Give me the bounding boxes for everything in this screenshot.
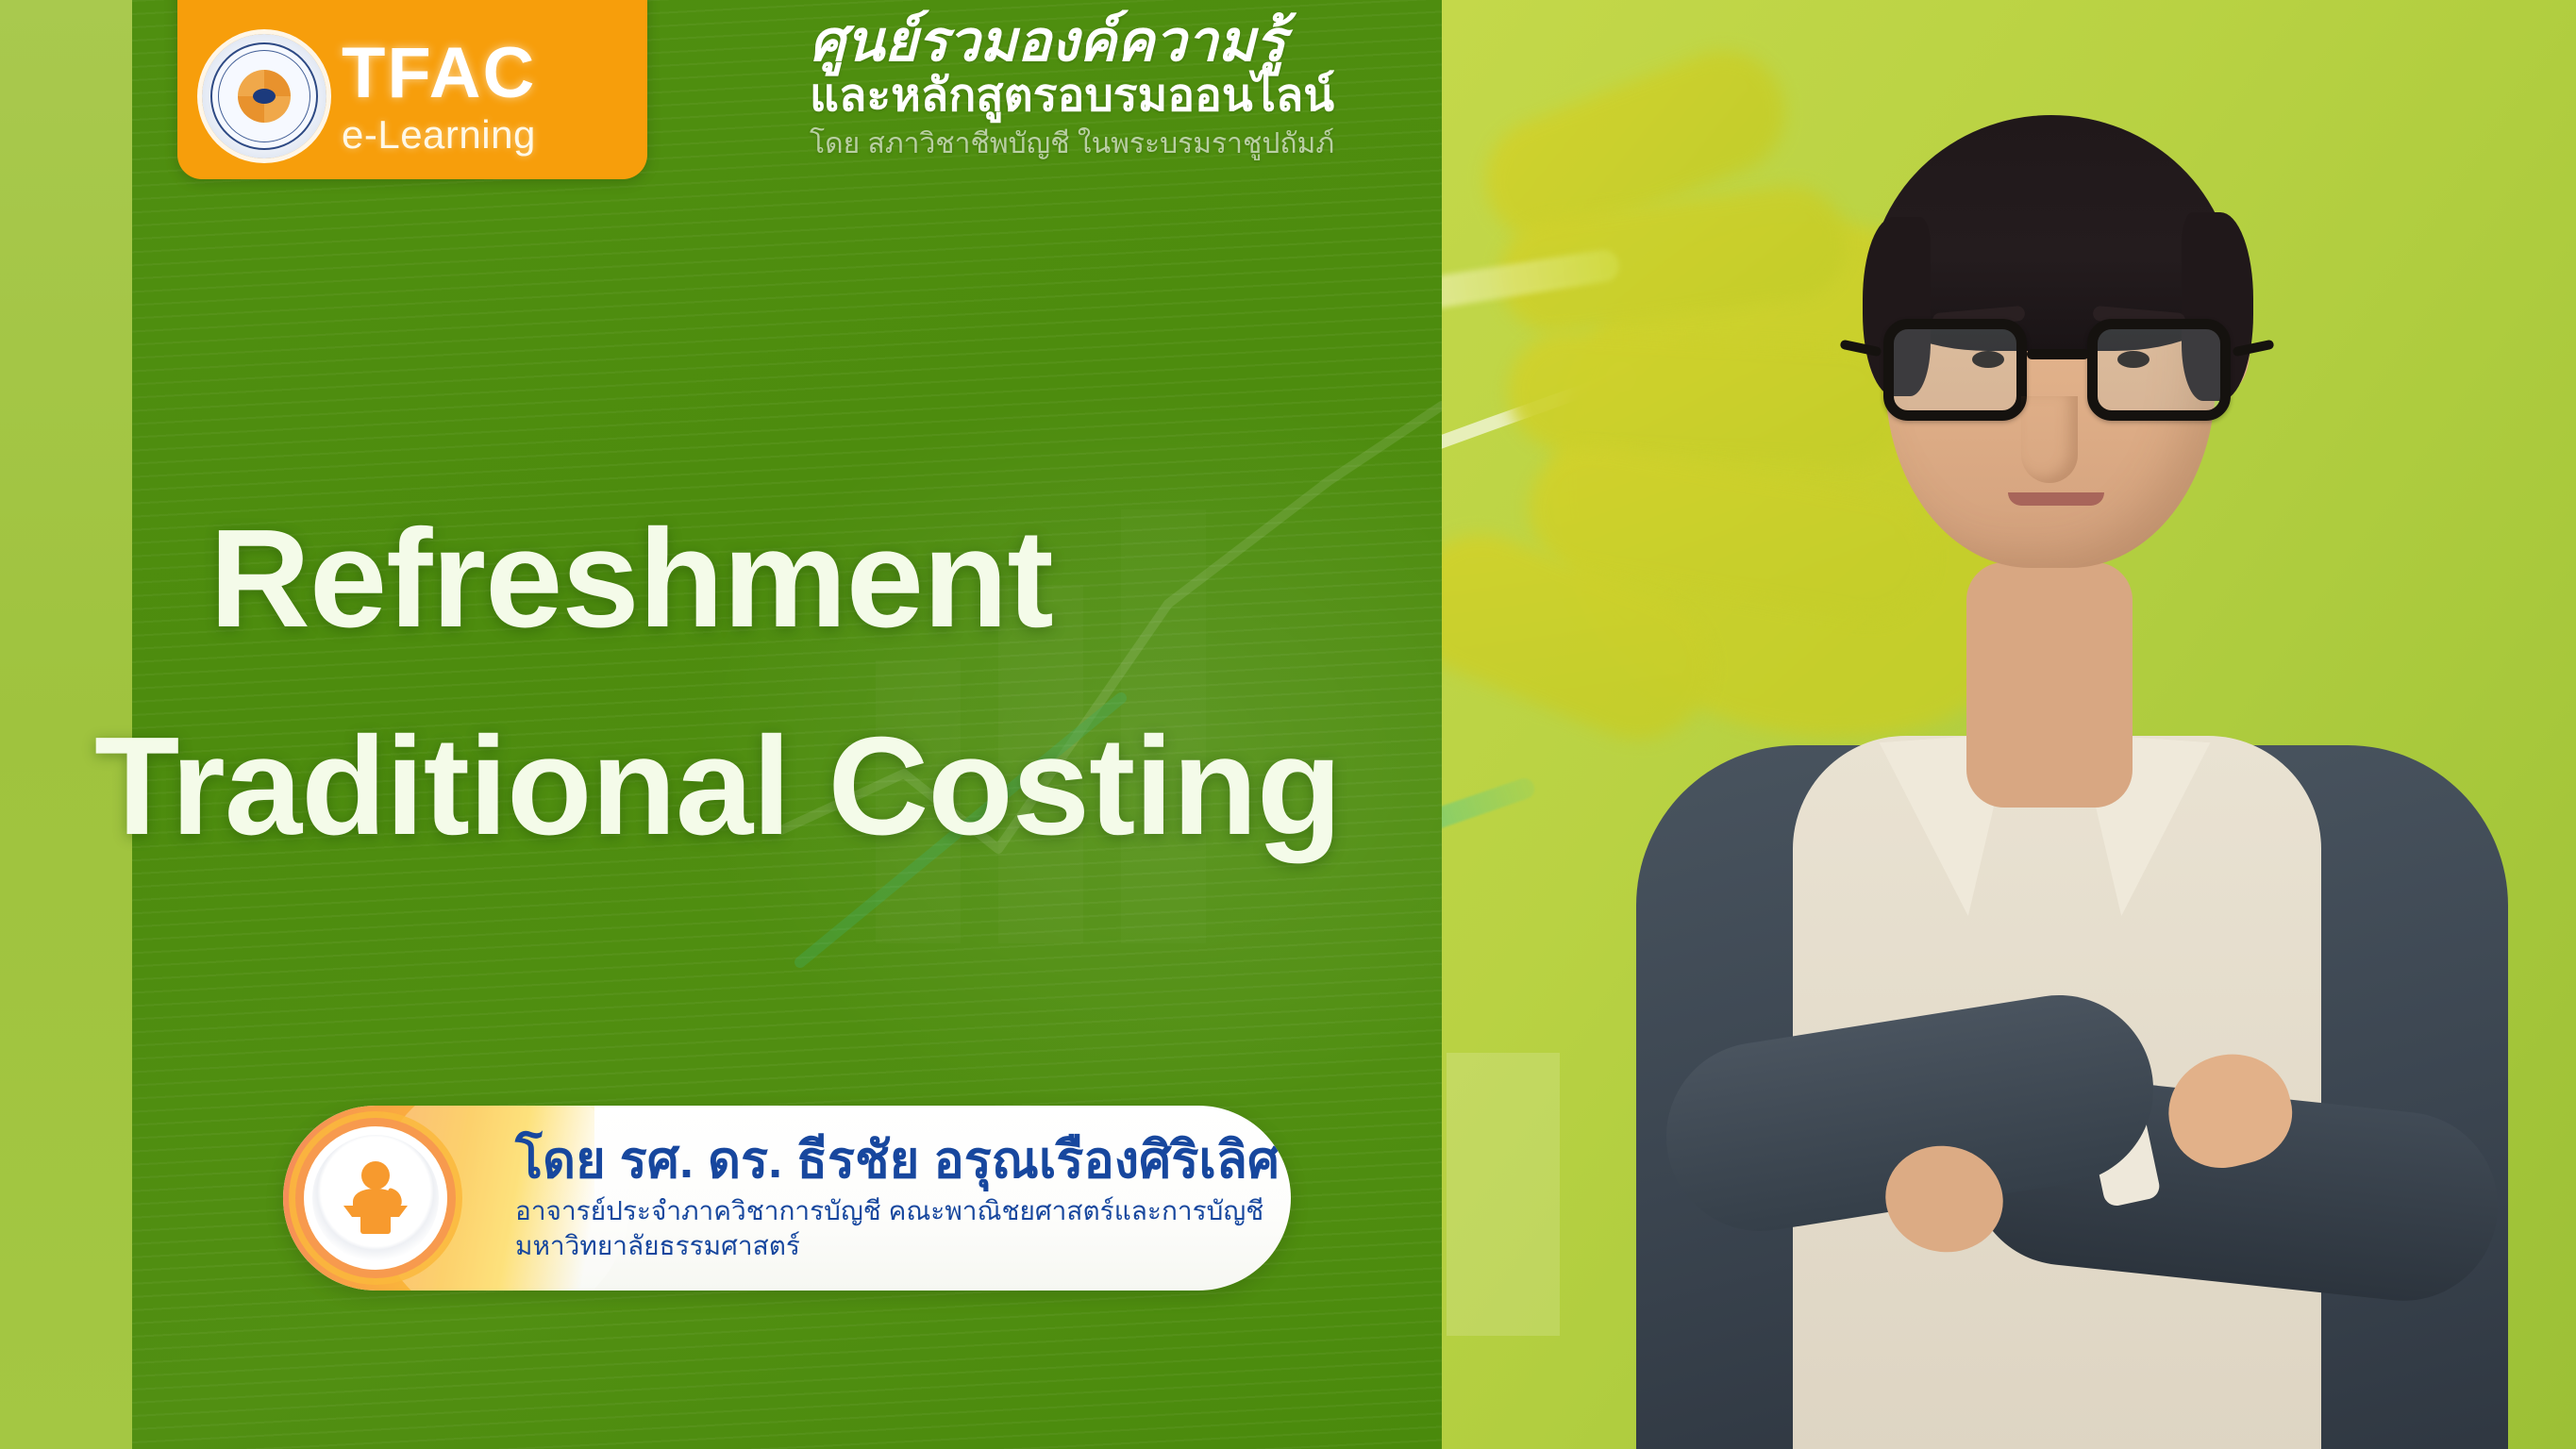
podium-speaker-glyph xyxy=(330,1153,421,1243)
logo-title: TFAC xyxy=(342,38,536,109)
presenter-figure xyxy=(1442,0,2576,1449)
speaker-affiliation-1: อาจารย์ประจำภาควิชาการบัญชี คณะพาณิชยศาส… xyxy=(515,1194,1280,1229)
speaker-name: โดย รศ. ดร. ธีรชัย อรุณเรืองศิริเลิศ xyxy=(515,1132,1280,1189)
lens-left xyxy=(1883,319,2027,421)
logo-subtitle: e-Learning xyxy=(342,115,536,155)
header-tagline: ศูนย์รวมองค์ความรู้ และหลักสูตรอบรมออนไล… xyxy=(810,9,1334,162)
tfac-seal-icon xyxy=(202,34,326,158)
tagline-line-1: ศูนย์รวมองค์ความรู้ xyxy=(810,9,1334,73)
lens-right xyxy=(2087,319,2231,421)
mouth xyxy=(2008,492,2104,506)
podium-speaker-icon xyxy=(304,1126,447,1270)
tagline-line-2: และหลักสูตรอบรมออนไลน์ xyxy=(810,69,1334,124)
speaker-badge: โดย รศ. ดร. ธีรชัย อรุณเรืองศิริเลิศ อาจ… xyxy=(283,1106,1291,1291)
neck xyxy=(1966,562,2133,808)
title-line-1: Refreshment xyxy=(0,509,1310,649)
tagline-line-3: โดย สภาวิชาชีพบัญชี ในพระบรมราชูปถัมภ์ xyxy=(810,125,1334,162)
presenter-photo xyxy=(1442,0,2576,1449)
speaker-affiliation-2: มหาวิทยาลัยธรรมศาสตร์ xyxy=(515,1229,1280,1264)
course-banner: TFAC e-Learning ศูนย์รวมองค์ความรู้ และห… xyxy=(0,0,2576,1449)
glasses-bridge xyxy=(2027,349,2089,359)
title-line-2: Traditional Costing xyxy=(0,717,1310,857)
nose xyxy=(2021,396,2078,483)
tfac-logo-block[interactable]: TFAC e-Learning xyxy=(177,0,647,179)
speaker-info: โดย รศ. ดร. ธีรชัย อรุณเรืองศิริเลิศ อาจ… xyxy=(515,1132,1280,1264)
logo-wordmark: TFAC e-Learning xyxy=(342,38,536,158)
seal-eye-icon xyxy=(253,89,276,104)
course-title: Refreshment Traditional Costing xyxy=(0,509,1310,857)
